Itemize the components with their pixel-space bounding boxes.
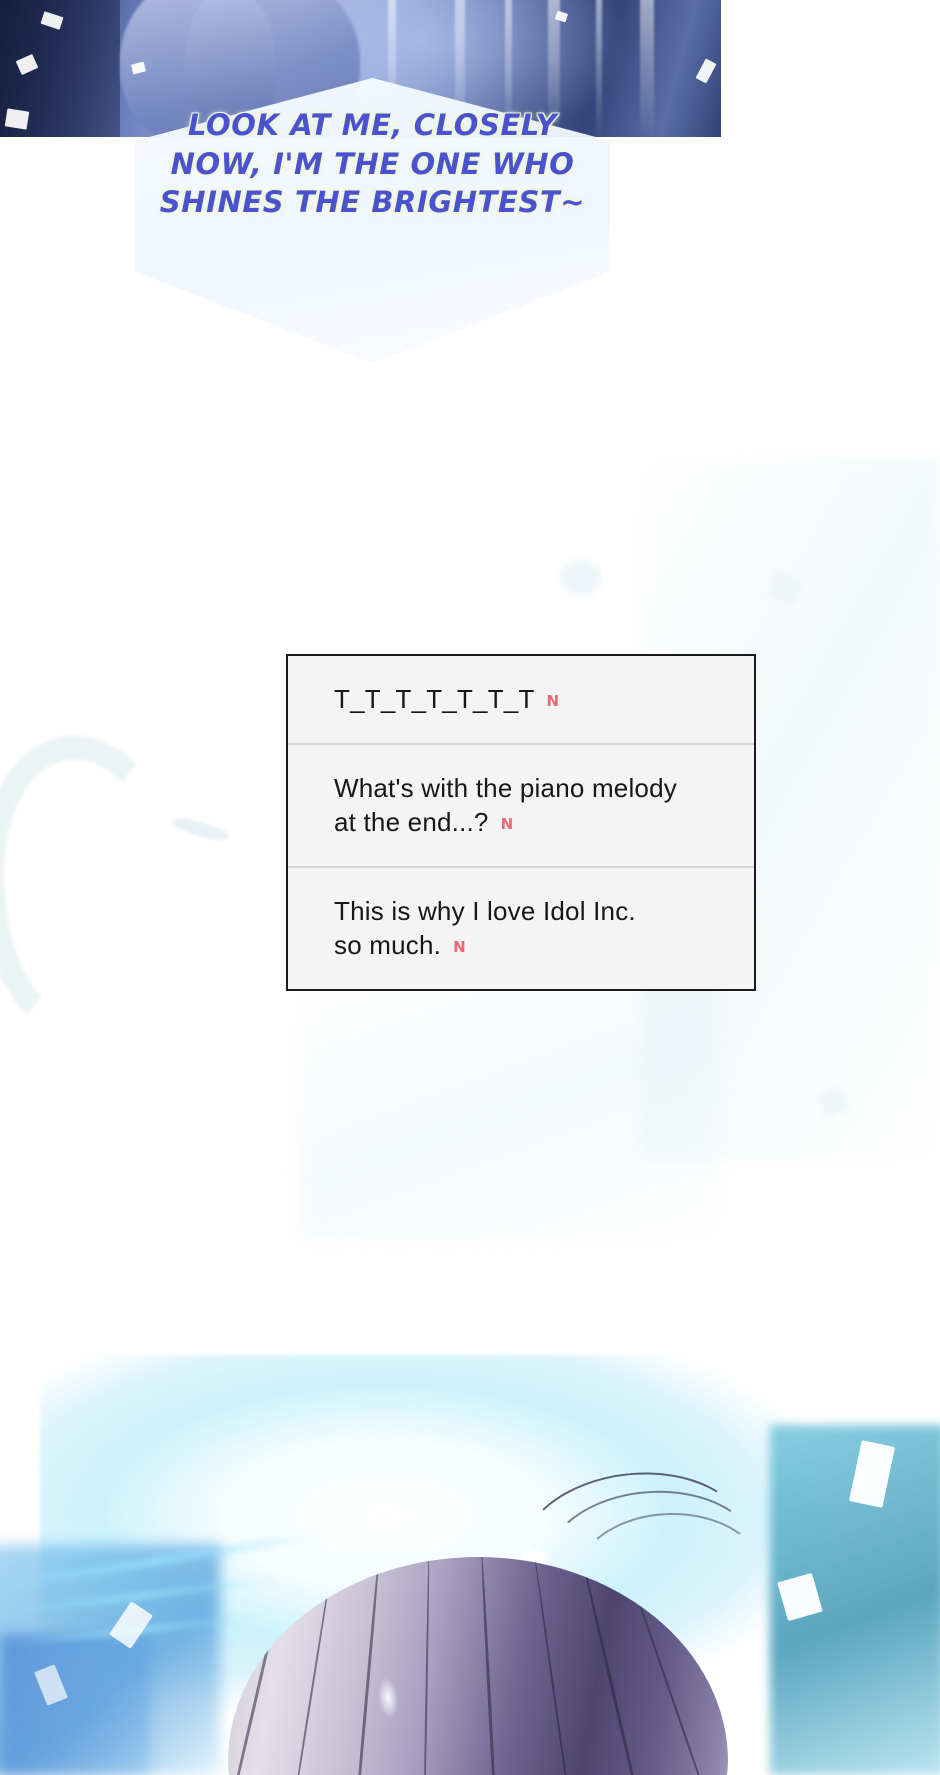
hair-highlight [375, 1676, 401, 1720]
comment-row[interactable]: This is why I love Idol Inc. so much.N [288, 866, 754, 989]
comment-row[interactable]: T_T_T_T_T_T_TN [288, 656, 754, 743]
confetti-piece [696, 58, 717, 83]
webtoon-page: LOOK AT ME, CLOSELY NOW, I'M THE ONE WHO… [0, 0, 940, 1775]
light-streak [640, 0, 654, 137]
comment-row[interactable]: What's with the piano melody at the end.… [288, 743, 754, 866]
new-comment-badge: N [501, 815, 514, 833]
light-streak [388, 0, 396, 137]
light-streak [505, 0, 512, 137]
light-streak [455, 0, 465, 137]
background-ghost-swirl [0, 722, 210, 1048]
background-ghost-blob [560, 560, 602, 596]
panel-figure-silhouette-secondary [185, 0, 275, 137]
bottom-art-panel [0, 1315, 940, 1775]
stage-light-blue [0, 1635, 150, 1775]
top-art-panel [0, 0, 721, 137]
comment-text: This is why I love Idol Inc. so much. [334, 896, 636, 961]
background-light-band [300, 980, 720, 1240]
new-comment-badge: N [547, 692, 560, 710]
comment-text: T_T_T_T_T_T_T [334, 684, 535, 714]
confetti-piece [5, 108, 30, 129]
light-streak [596, 0, 602, 137]
new-comment-badge: N [453, 938, 466, 956]
comment-list[interactable]: T_T_T_T_T_T_TN What's with the piano mel… [286, 654, 756, 991]
light-streak [548, 0, 560, 137]
